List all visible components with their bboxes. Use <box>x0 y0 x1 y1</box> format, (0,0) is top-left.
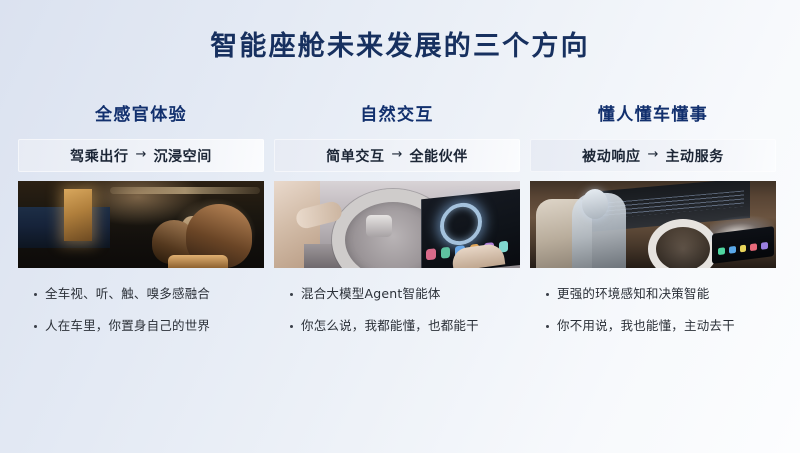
indicator-icon <box>729 246 736 254</box>
slide-root: 智能座舱未来发展的三个方向 全感官体验 驾乘出行 → 沉浸空间 全车视、听、触、… <box>0 0 800 453</box>
column-bullets-2: 混合大模型Agent智能体 你怎么说，我都能懂，也都能干 <box>274 285 520 335</box>
list-item: 全车视、听、触、嗅多感融合 <box>34 285 264 303</box>
bullet-text: 你怎么说，我都能懂，也都能干 <box>301 317 479 335</box>
column-photo-2 <box>274 181 520 268</box>
column-bullets-3: 更强的环境感知和决策智能 你不用说，我也能懂，主动去干 <box>530 285 776 335</box>
column-photo-3 <box>530 181 776 268</box>
list-item: 更强的环境感知和决策智能 <box>546 285 776 303</box>
column-heading-3: 懂人懂车懂事 <box>530 104 776 128</box>
bullet-text: 更强的环境感知和决策智能 <box>557 285 709 303</box>
column-photo-1 <box>18 181 264 268</box>
list-item: 混合大模型Agent智能体 <box>290 285 520 303</box>
column-transform-bar-2: 简单交互 → 全能伙伴 <box>274 139 520 172</box>
arrow-right-icon: → <box>648 147 659 162</box>
list-item: 人在车里，你置身自己的世界 <box>34 317 264 335</box>
tray-shape <box>168 255 228 268</box>
app-icon <box>441 246 451 258</box>
bullet-dot-icon <box>34 293 37 296</box>
indicator-icon <box>750 243 757 251</box>
bar-to-label-2: 全能伙伴 <box>409 146 467 166</box>
bullet-dot-icon <box>546 293 549 296</box>
list-item: 你不用说，我也能懂，主动去干 <box>546 317 776 335</box>
bar-from-label-1: 驾乘出行 <box>70 146 128 166</box>
bullet-text: 全车视、听、触、嗅多感融合 <box>45 285 210 303</box>
column-transform-bar-1: 驾乘出行 → 沉浸空间 <box>18 139 264 172</box>
page-title: 智能座舱未来发展的三个方向 <box>0 24 800 63</box>
steering-wheel-shape <box>648 219 718 268</box>
app-icon <box>426 248 436 260</box>
column-full-sensory: 全感官体验 驾乘出行 → 沉浸空间 全车视、听、触、嗅多感融合 <box>18 104 264 349</box>
ambient-light-strip <box>110 187 260 194</box>
bar-from-label-2: 简单交互 <box>326 146 384 166</box>
bullet-text: 你不用说，我也能懂，主动去干 <box>557 317 735 335</box>
column-heading-2: 自然交互 <box>274 104 520 128</box>
column-natural-interaction: 自然交互 简单交互 → 全能伙伴 <box>274 104 520 349</box>
indicator-icon <box>740 245 747 253</box>
column-bullets-1: 全车视、听、触、嗅多感融合 人在车里，你置身自己的世界 <box>18 285 264 335</box>
bullet-text: 混合大模型Agent智能体 <box>301 285 441 303</box>
bar-to-label-1: 沉浸空间 <box>153 146 211 166</box>
indicator-icon <box>761 242 768 250</box>
arrow-right-icon: → <box>392 147 403 162</box>
column-transform-bar-3: 被动响应 → 主动服务 <box>530 139 776 172</box>
bullet-dot-icon <box>290 293 293 296</box>
list-item: 你怎么说，我都能懂，也都能干 <box>290 317 520 335</box>
arrow-right-icon: → <box>136 147 147 162</box>
column-understanding: 懂人懂车懂事 被动响应 → 主动服务 <box>530 104 776 349</box>
bullet-dot-icon <box>34 325 37 328</box>
bullet-dot-icon <box>546 325 549 328</box>
indicator-icon <box>718 247 725 255</box>
bullet-text: 人在车里，你置身自己的世界 <box>45 317 210 335</box>
column-heading-1: 全感官体验 <box>18 104 264 128</box>
bullet-dot-icon <box>290 325 293 328</box>
steering-hub-shape <box>366 215 392 237</box>
driver-head-mesh <box>582 189 608 219</box>
bar-from-label-3: 被动响应 <box>582 146 640 166</box>
bar-to-label-3: 主动服务 <box>665 146 723 166</box>
columns-container: 全感官体验 驾乘出行 → 沉浸空间 全车视、听、触、嗅多感融合 <box>0 104 800 349</box>
